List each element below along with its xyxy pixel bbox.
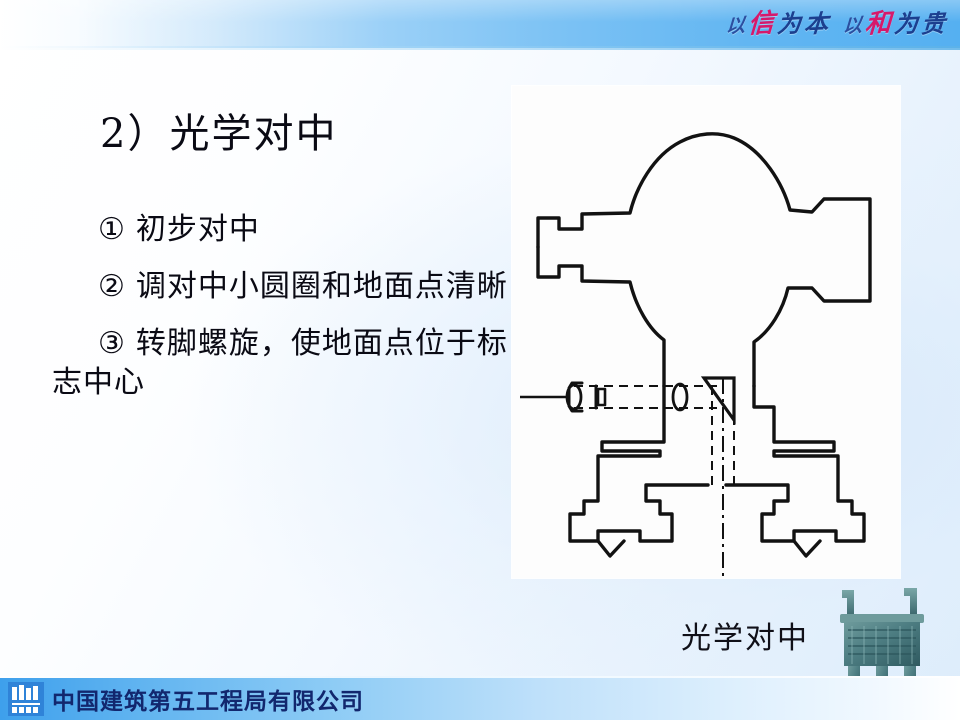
motto-right-char-2: 为	[893, 11, 919, 36]
text-column: 2）光学对中 ①初步对中 ②调对中小圆圈和地面点清晰 ③转脚螺旋，使地面点位于标…	[52, 112, 522, 420]
cscec-logo	[8, 682, 44, 716]
motto-left-char-3: 本	[803, 11, 829, 36]
slide-headline: 2）光学对中	[100, 112, 522, 156]
motto-left-char-0: 以	[725, 16, 746, 37]
bullet-item-3: ③转脚螺旋，使地面点位于标志中心	[52, 324, 522, 402]
motto-right-char-1: 和	[864, 10, 892, 37]
motto-right-char-3: 贵	[920, 11, 946, 36]
header-calligraphy-motto: 以 信 为 本 以 和 为 贵	[726, 6, 946, 42]
bullet-marker-3: ③	[98, 326, 126, 361]
bullet-text-1: 初步对中	[136, 212, 260, 247]
slide: 以 信 为 本 以 和 为 贵 2）光学对中 ①初步对中 ②调对中小圆圈和地面点…	[0, 0, 960, 720]
bullet-item-1: ①初步对中	[52, 210, 522, 249]
motto-left: 以 信 为 本	[726, 11, 829, 37]
prism	[704, 378, 734, 420]
bullet-text-2: 调对中小圆圈和地面点清晰	[136, 269, 508, 304]
figure-panel	[512, 86, 900, 578]
bullet-marker-1: ①	[98, 212, 126, 247]
motto-right-char-0: 以	[842, 16, 863, 37]
bullet-item-2: ②调对中小圆圈和地面点清晰	[52, 267, 522, 306]
footer-company-name: 中国建筑第五工程局有限公司	[52, 681, 364, 717]
bullet-marker-2: ②	[98, 269, 126, 304]
motto-left-char-2: 为	[776, 11, 802, 36]
theodolite-cross-section-drawing	[512, 86, 900, 578]
motto-right: 以 和 为 贵	[843, 11, 946, 37]
motto-left-char-1: 信	[747, 10, 775, 37]
header-edge	[0, 46, 960, 50]
